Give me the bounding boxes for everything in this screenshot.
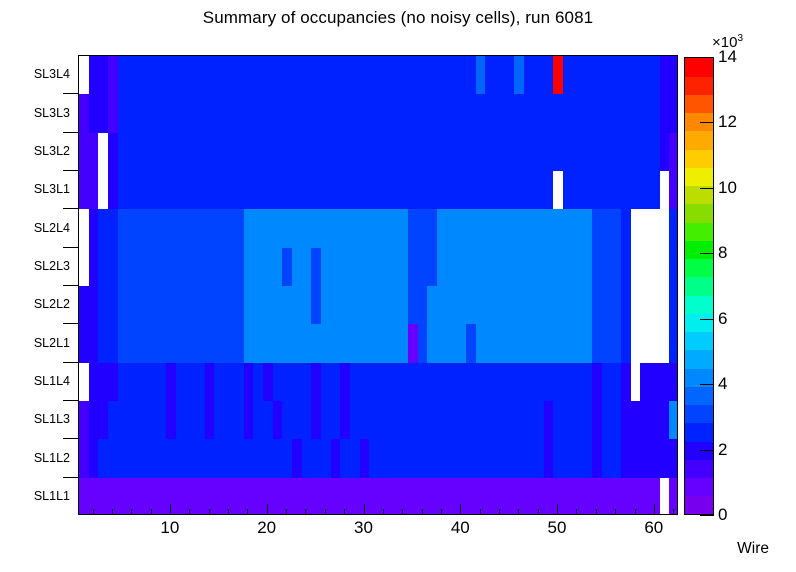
heatmap-cell <box>592 401 602 440</box>
heatmap-cell <box>621 363 631 402</box>
colorbar-tick <box>700 515 714 516</box>
x-axis-tick <box>499 509 500 515</box>
x-axis-tick <box>247 509 248 515</box>
colorbar-label-10: 10 <box>718 178 737 198</box>
colorbar-tick <box>700 253 714 254</box>
heatmap-cell <box>631 209 670 248</box>
heatmap-cell <box>244 363 254 402</box>
colorbar-segment <box>685 240 713 259</box>
y-axis-label-sl2l3: SL2L3 <box>0 259 70 273</box>
heatmap-cell <box>108 133 118 172</box>
x-axis-label-20: 20 <box>257 518 276 538</box>
y-axis-label-sl3l4: SL3L4 <box>0 67 70 81</box>
colorbar-segment <box>685 94 713 113</box>
heatmap-cell <box>514 56 524 95</box>
heatmap-cell <box>176 363 206 402</box>
heatmap-cell <box>118 248 244 287</box>
heatmap-cell <box>476 56 486 95</box>
heatmap-cell <box>98 133 108 172</box>
colorbar-segment <box>685 131 713 150</box>
heatmap-cell <box>350 401 544 440</box>
heatmap-cell <box>592 324 622 363</box>
x-axis-tick <box>596 509 597 515</box>
heatmap-cell <box>592 363 602 402</box>
colorbar-segment <box>685 58 713 77</box>
heatmap-cell <box>660 133 670 172</box>
y-axis-label-sl1l2: SL1L2 <box>0 451 70 465</box>
colorbar-segment <box>685 204 713 223</box>
heatmap-cell <box>321 363 341 402</box>
colorbar-segment <box>685 405 713 424</box>
heatmap-cell <box>214 401 244 440</box>
heatmap-cell <box>244 248 283 287</box>
heatmap-cell <box>253 363 263 402</box>
colorbar-tick <box>700 122 714 123</box>
heatmap-cell <box>602 363 622 402</box>
heatmap-cell <box>98 248 118 287</box>
heatmap-cell <box>408 209 438 248</box>
heatmap-cell <box>166 401 176 440</box>
colorbar-label-2: 2 <box>718 440 727 460</box>
heatmap-cell <box>263 363 273 402</box>
heatmap-cell <box>563 171 660 210</box>
heatmap-cell <box>79 363 89 402</box>
heatmap-cell <box>631 363 641 402</box>
y-axis-tick <box>63 438 78 439</box>
colorbar-tick <box>700 57 714 58</box>
y-axis-label-sl2l2: SL2L2 <box>0 297 70 311</box>
x-axis-tick <box>267 504 268 515</box>
colorbar-segment <box>685 259 713 278</box>
x-axis-tick <box>673 509 674 515</box>
x-axis-tick <box>131 509 132 515</box>
heatmap-cell <box>563 56 660 95</box>
heatmap-cell <box>408 324 418 363</box>
x-axis-tick <box>460 504 461 515</box>
x-axis-tick <box>151 509 152 515</box>
heatmap-cell <box>621 248 631 287</box>
heatmap-cell <box>118 94 660 133</box>
heatmap-plot-area[interactable] <box>78 55 678 515</box>
heatmap-cell <box>602 439 622 478</box>
heatmap-cell <box>89 248 99 287</box>
colorbar-label-8: 8 <box>718 243 727 263</box>
heatmap-cell <box>485 56 515 95</box>
heatmap-cell <box>79 439 89 478</box>
x-axis-tick <box>441 509 442 515</box>
x-axis-tick <box>615 509 616 515</box>
y-axis-label-sl1l3: SL1L3 <box>0 412 70 426</box>
heatmap-cell <box>621 324 631 363</box>
colorbar-segment <box>685 295 713 314</box>
chart-canvas: Summary of occupancies (no noisy cells),… <box>0 0 796 572</box>
heatmap-cell <box>89 363 119 402</box>
heatmap-cell <box>544 401 554 440</box>
x-axis-tick <box>189 509 190 515</box>
heatmap-cell <box>282 401 312 440</box>
heatmap-cell <box>118 363 167 402</box>
heatmap-cell <box>244 209 409 248</box>
y-axis-label-sl3l1: SL3L1 <box>0 182 70 196</box>
colorbar-segment <box>685 350 713 369</box>
heatmap-cell <box>98 439 292 478</box>
heatmap-cell <box>360 439 370 478</box>
heatmap-cell <box>621 439 678 478</box>
heatmap-cell <box>118 209 244 248</box>
heatmap-cell <box>79 209 89 248</box>
heatmap-cell <box>244 401 254 440</box>
heatmap-cell <box>321 248 409 287</box>
heatmap-cell <box>311 248 321 287</box>
heatmap-cell <box>631 286 670 325</box>
heatmap-cell <box>79 478 660 515</box>
heatmap-cell <box>331 439 341 478</box>
heatmap-cell <box>205 363 215 402</box>
colorbar-segment <box>685 149 713 168</box>
heatmap-cell <box>408 248 438 287</box>
colorbar-segment <box>685 496 713 515</box>
y-axis-tick <box>63 362 78 363</box>
x-axis-tick <box>538 509 539 515</box>
heatmap-cell <box>79 401 89 440</box>
heatmap-cell <box>108 171 118 210</box>
x-axis-tick <box>112 509 113 515</box>
heatmap-cell <box>302 439 332 478</box>
x-axis-tick <box>635 509 636 515</box>
x-axis-tick <box>364 504 365 515</box>
heatmap-cell <box>669 248 678 287</box>
y-axis-label-sl3l2: SL3L2 <box>0 144 70 158</box>
heatmap-cell <box>118 171 554 210</box>
heatmap-cell <box>408 286 428 325</box>
heatmap-cell <box>340 439 360 478</box>
heatmap-cell <box>79 133 99 172</box>
heatmap-cell <box>631 248 670 287</box>
x-axis-label-40: 40 <box>451 518 470 538</box>
heatmap-cell <box>89 401 109 440</box>
heatmap-cell <box>89 56 109 95</box>
x-axis-tick <box>480 509 481 515</box>
colorbar-segment <box>685 478 713 497</box>
colorbar-tick <box>700 188 714 189</box>
heatmap-cell <box>631 324 670 363</box>
y-axis-tick <box>63 477 78 478</box>
heatmap-cell <box>253 401 273 440</box>
heatmap-cell <box>108 94 118 133</box>
heatmap-cell <box>98 171 108 210</box>
x-axis-tick <box>557 504 558 515</box>
heatmap-cell <box>350 363 592 402</box>
heatmap-cell <box>273 401 283 440</box>
x-axis-tick <box>286 509 287 515</box>
y-axis-label-sl2l4: SL2L4 <box>0 221 70 235</box>
x-axis-tick <box>305 509 306 515</box>
heatmap-cell <box>79 94 89 133</box>
heatmap-cell <box>669 324 678 363</box>
colorbar-segment <box>685 332 713 351</box>
heatmap-cell <box>79 286 99 325</box>
heatmap-cell <box>669 171 678 210</box>
colorbar-exponent-power: 3 <box>737 33 743 44</box>
heatmap-cell <box>369 439 544 478</box>
heatmap-cell <box>311 363 321 402</box>
heatmap-cell <box>660 478 670 515</box>
colorbar-segment <box>685 222 713 241</box>
heatmap-cell <box>108 56 118 95</box>
heatmap-cell <box>244 324 409 363</box>
heatmap-cell <box>602 401 622 440</box>
y-axis-tick <box>63 400 78 401</box>
heatmap-cell <box>79 56 89 95</box>
y-axis-tick <box>63 132 78 133</box>
colorbar-label-14: 14 <box>718 47 737 67</box>
heatmap-cell <box>592 286 622 325</box>
colorbar-tick <box>700 319 714 320</box>
heatmap-cell <box>79 171 99 210</box>
heatmap-cell <box>660 171 670 210</box>
heatmap-cell <box>89 94 109 133</box>
y-axis-tick <box>63 247 78 248</box>
heatmap-cell <box>89 209 99 248</box>
heatmap-cell <box>108 401 167 440</box>
x-axis-label-60: 60 <box>644 518 663 538</box>
page-title: Summary of occupancies (no noisy cells),… <box>0 8 796 28</box>
x-axis-tick <box>422 509 423 515</box>
heatmap-cell <box>524 56 554 95</box>
heatmap-cell <box>321 286 409 325</box>
colorbar-segment <box>685 313 713 332</box>
heatmap-cell <box>621 286 631 325</box>
heatmap-cell <box>98 286 118 325</box>
heatmap-cell <box>118 56 477 95</box>
y-axis-label-sl1l1: SL1L1 <box>0 489 70 503</box>
colorbar-segment <box>685 459 713 478</box>
x-axis-tick <box>576 509 577 515</box>
heatmap-cell <box>98 209 118 248</box>
heatmap-cell <box>621 209 631 248</box>
heatmap-cell <box>340 363 350 402</box>
heatmap-cell <box>660 56 678 95</box>
heatmap-cell <box>466 324 476 363</box>
x-axis-tick <box>228 509 229 515</box>
heatmap-cell <box>418 324 428 363</box>
heatmap-cell <box>592 209 622 248</box>
heatmap-cell <box>176 401 206 440</box>
colorbar-tick <box>700 450 714 451</box>
x-axis-tick <box>209 509 210 515</box>
heatmap-cell <box>89 439 99 478</box>
y-axis-label-sl1l4: SL1L4 <box>0 374 70 388</box>
x-axis-tick <box>170 504 171 515</box>
heatmap-cell <box>621 401 670 440</box>
heatmap-cell <box>669 133 678 172</box>
x-axis-tick <box>402 509 403 515</box>
heatmap-cell <box>592 439 602 478</box>
heatmap-cell <box>205 401 215 440</box>
x-axis-tick <box>518 509 519 515</box>
heatmap-cell <box>321 401 341 440</box>
heatmap-cell <box>292 248 312 287</box>
colorbar-label-0: 0 <box>718 505 727 525</box>
heatmap-cell <box>166 363 176 402</box>
colorbar-segment <box>685 167 713 186</box>
heatmap-cell <box>427 286 592 325</box>
colorbar-segment <box>685 76 713 95</box>
y-axis-label-sl2l1: SL2L1 <box>0 336 70 350</box>
x-axis-tick <box>93 509 94 515</box>
colorbar-label-4: 4 <box>718 374 727 394</box>
heatmap-cell <box>660 94 678 133</box>
heatmap-cell <box>640 363 678 402</box>
colorbar[interactable] <box>684 57 714 515</box>
heatmap-cell <box>98 324 118 363</box>
heatmap-cell <box>437 209 592 248</box>
x-axis-tick <box>325 509 326 515</box>
x-axis-label-10: 10 <box>160 518 179 538</box>
y-axis-tick <box>63 323 78 324</box>
colorbar-label-12: 12 <box>718 112 737 132</box>
x-axis-label-30: 30 <box>354 518 373 538</box>
heatmap-cell <box>427 324 466 363</box>
heatmap-cell <box>476 324 593 363</box>
heatmap-cell <box>669 401 678 440</box>
y-axis-tick <box>63 208 78 209</box>
heatmap-cell <box>311 401 321 440</box>
y-axis-tick <box>63 285 78 286</box>
x-axis-tick <box>654 504 655 515</box>
heatmap-cells <box>79 56 677 514</box>
colorbar-segment <box>685 277 713 296</box>
y-axis-tick <box>63 170 78 171</box>
heatmap-cell <box>273 363 312 402</box>
heatmap-cell <box>553 171 563 210</box>
x-axis-title: Wire <box>737 540 769 558</box>
heatmap-cell <box>292 439 302 478</box>
heatmap-cell <box>79 324 99 363</box>
colorbar-tick <box>700 384 714 385</box>
heatmap-cell <box>553 439 592 478</box>
y-axis-label-sl3l3: SL3L3 <box>0 106 70 120</box>
heatmap-cell <box>669 286 678 325</box>
heatmap-cell <box>79 248 89 287</box>
x-axis-label-50: 50 <box>548 518 567 538</box>
heatmap-cell <box>340 401 350 440</box>
heatmap-cell <box>118 286 244 325</box>
heatmap-cell <box>544 439 554 478</box>
heatmap-cell <box>553 56 563 95</box>
heatmap-cell <box>282 248 292 287</box>
colorbar-segment <box>685 423 713 442</box>
heatmap-cell <box>553 401 592 440</box>
heatmap-cell <box>669 209 678 248</box>
heatmap-cell <box>118 133 660 172</box>
x-axis-tick <box>383 509 384 515</box>
heatmap-cell <box>244 286 312 325</box>
heatmap-cell <box>214 363 244 402</box>
heatmap-cell <box>592 248 622 287</box>
heatmap-cell <box>311 286 321 325</box>
heatmap-cell <box>437 248 592 287</box>
colorbar-segment <box>685 386 713 405</box>
y-axis-tick <box>63 93 78 94</box>
colorbar-label-6: 6 <box>718 309 727 329</box>
x-axis-tick <box>344 509 345 515</box>
heatmap-cell <box>118 324 244 363</box>
